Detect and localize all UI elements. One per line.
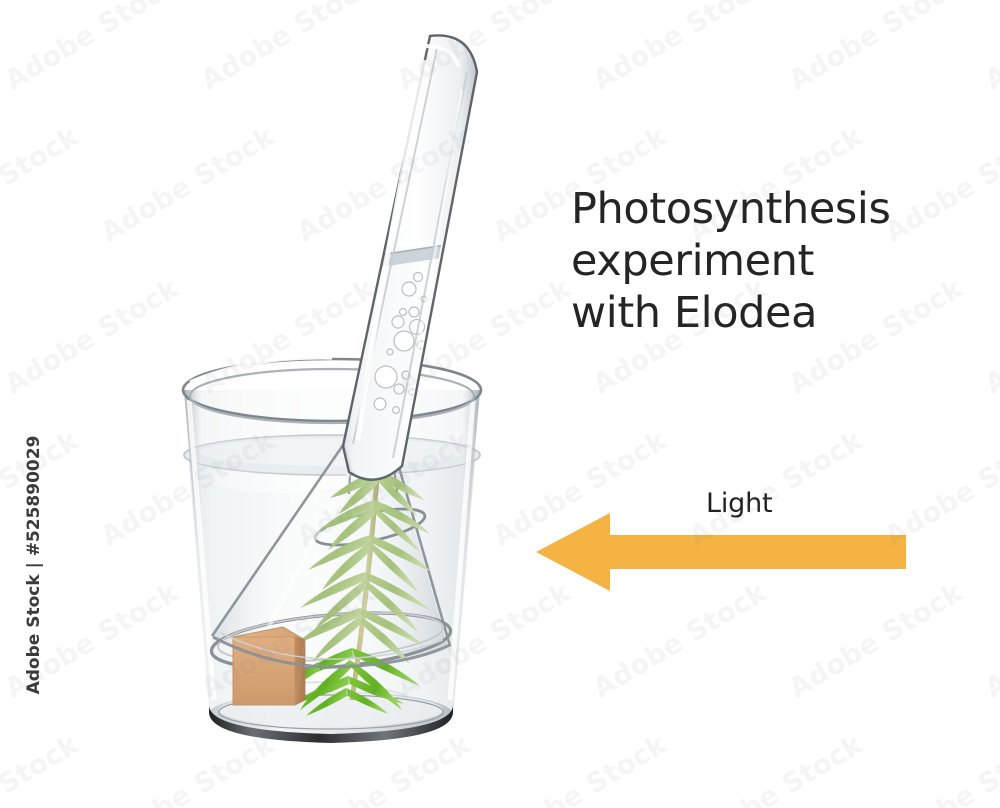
stock-watermark-caption: Adobe Stock | #525890029	[24, 435, 44, 695]
title-line-2: experiment	[571, 235, 971, 287]
arrow-shape	[536, 513, 906, 591]
title-line-1: Photosynthesis	[571, 183, 971, 235]
photosynthesis-illustration	[0, 0, 1000, 808]
wooden-block	[233, 627, 305, 707]
image-canvas: Photosynthesis experiment with Elodea Li…	[0, 0, 1000, 808]
title-line-3: with Elodea	[571, 287, 971, 339]
page-title: Photosynthesis experiment with Elodea	[571, 183, 971, 339]
light-direction-arrow	[536, 513, 906, 596]
